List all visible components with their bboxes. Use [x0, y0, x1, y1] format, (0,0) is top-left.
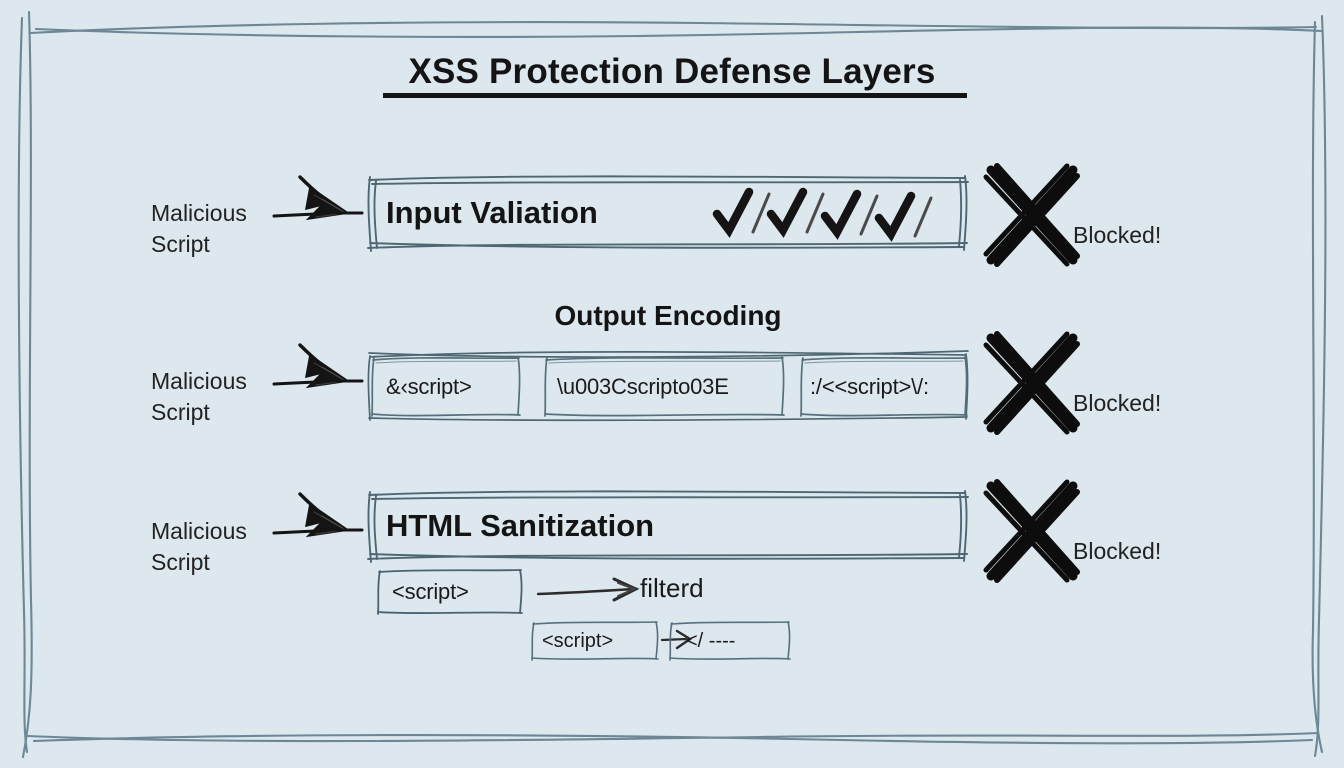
script-tag-box-1-text: <script>	[392, 568, 469, 616]
html-sanitization-box[interactable]: HTML Sanitization	[364, 487, 972, 565]
blocked-label-2: Blocked!	[1073, 390, 1161, 417]
page-title-wrap: XSS Protection Defense Layers	[0, 52, 1344, 96]
x-mark-icon-1	[977, 160, 1087, 270]
input-validation-label: Input Valiation	[386, 172, 598, 254]
malicious-script-label-2: Malicious Script	[151, 366, 247, 428]
x-mark-icon-3	[977, 476, 1087, 586]
title-underline	[383, 93, 967, 98]
code-box-3-text: :/<<script>\/:	[810, 355, 929, 419]
code-box-2[interactable]: \u003Cscripto03E	[543, 355, 786, 419]
code-box-2-text: \u003Cscripto03E	[557, 355, 729, 419]
code-box-1[interactable]: &‹script>	[370, 355, 522, 419]
sketch-arrow-icon-3	[270, 492, 365, 557]
blocked-label-3: Blocked!	[1073, 538, 1161, 565]
sketch-arrow-icon-2	[270, 343, 365, 408]
malicious-script-label-3: Malicious Script	[151, 516, 247, 578]
filtered-output-box[interactable]: </ ----	[668, 620, 792, 662]
script-tag-box-1[interactable]: <script>	[376, 568, 524, 616]
input-validation-box[interactable]: Input Valiation	[364, 172, 972, 254]
code-box-1-text: &‹script>	[386, 355, 472, 419]
script-tag-box-2[interactable]: <script>	[530, 620, 660, 662]
html-sanitization-label: HTML Sanitization	[386, 487, 654, 565]
filtered-word: filterd	[640, 573, 704, 604]
sketch-arrow-icon-1	[270, 175, 365, 240]
filtered-output-text: </ ----	[686, 620, 735, 662]
code-box-3[interactable]: :/<<script>\/:	[799, 355, 969, 419]
diagram-canvas: XSS Protection Defense Layers Malicious …	[0, 0, 1344, 768]
malicious-script-label-1: Malicious Script	[151, 198, 247, 260]
x-mark-icon-2	[977, 328, 1087, 438]
checkmarks-group	[709, 184, 959, 246]
thin-arrow-icon	[536, 574, 646, 610]
page-title: XSS Protection Defense Layers	[408, 52, 935, 96]
output-encoding-heading: Output Encoding	[364, 300, 972, 332]
blocked-label-1: Blocked!	[1073, 222, 1161, 249]
script-tag-box-2-text: <script>	[542, 620, 613, 662]
